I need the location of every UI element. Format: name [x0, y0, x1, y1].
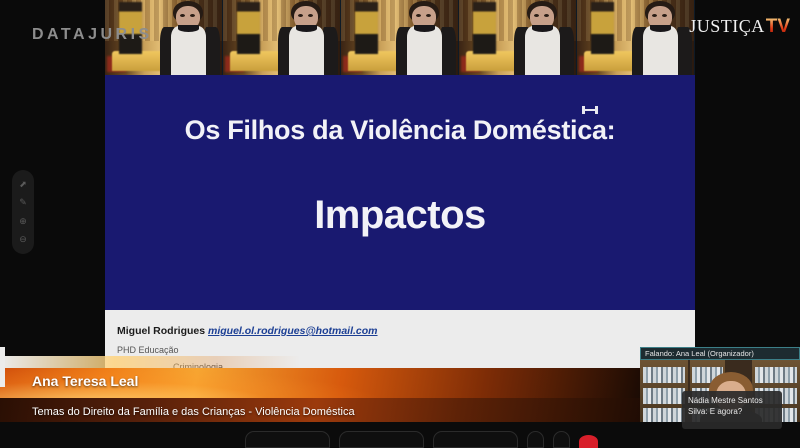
frame-adult-figure — [473, 2, 496, 55]
chat-message-text: Nádia Mestre Santos Silva: E agora? — [688, 396, 776, 418]
zoom-out-tool-icon[interactable]: ⊖ — [17, 233, 30, 246]
frame-boy-figure — [277, 0, 338, 75]
boy-collar — [650, 25, 671, 32]
book-row — [643, 388, 685, 404]
boy-sleeve-right — [323, 27, 338, 75]
resize-cursor-bar — [585, 109, 595, 111]
boy-shirt — [407, 26, 442, 76]
record-indicator-icon[interactable] — [579, 435, 598, 448]
video-frame — [341, 0, 459, 75]
slide-author-line: Miguel Rodrigues miguel.ol.rodrigues@hot… — [117, 325, 378, 337]
zoom-in-tool-icon[interactable]: ⊕ — [17, 215, 30, 228]
control-circle-1[interactable] — [527, 431, 544, 448]
video-conference-screen: DATAJURIS JUSTIÇA TV Os Filhos da Violên… — [0, 0, 800, 448]
book-row — [755, 367, 797, 383]
resize-cursor-right-cap — [595, 106, 598, 114]
speaking-label: Falando: Ana Leal (Organizador) — [645, 349, 754, 358]
slide-author-email[interactable]: miguel.ol.rodrigues@hotmail.com — [208, 325, 378, 337]
slide-credential-1: PHD Educação — [117, 345, 179, 355]
boy-shirt — [525, 26, 560, 76]
boy-sleeve-right — [205, 27, 220, 75]
control-pill-3[interactable] — [433, 431, 518, 448]
slide-subtitle: Impactos — [105, 193, 695, 238]
speaking-label-bar: Falando: Ana Leal (Organizador) — [640, 347, 800, 360]
boy-collar — [532, 25, 553, 32]
frame-adult-figure — [237, 2, 260, 55]
pen-tool-icon[interactable]: ✎ — [17, 196, 30, 209]
slide-author-name: Miguel Rodrigues — [117, 325, 205, 337]
datajuris-watermark: DATAJURIS — [32, 26, 153, 44]
webcam-pip[interactable]: Falando: Ana Leal (Organizador) — [640, 347, 800, 433]
video-frame — [223, 0, 341, 75]
justica-logo-text: JUSTIÇA — [689, 16, 765, 37]
boy-shirt — [643, 26, 678, 76]
frame-adult-figure — [355, 2, 378, 55]
pointer-tool-icon[interactable]: ⬈ — [17, 178, 30, 191]
bottom-control-bar — [0, 422, 800, 448]
boy-shirt — [171, 26, 206, 76]
frame-boy-figure — [513, 0, 574, 75]
frame-adult-figure — [591, 2, 614, 55]
control-button-row — [245, 422, 598, 448]
control-pill-1[interactable] — [245, 431, 330, 448]
justica-logo-accent: TV — [766, 16, 790, 38]
slide-title-panel: Os Filhos da Violência Doméstica: Impact… — [105, 75, 695, 310]
justica-tv-logo: JUSTIÇA TV — [689, 16, 790, 38]
frame-boy-figure — [395, 0, 456, 75]
boy-collar — [296, 25, 317, 32]
horizontal-resize-cursor-icon — [582, 106, 598, 115]
slide-edge-sliver — [0, 347, 5, 387]
book-row — [643, 367, 685, 383]
video-frame-strip — [105, 0, 695, 75]
boy-shirt — [289, 26, 324, 76]
frame-boy-figure — [631, 0, 692, 75]
video-frame — [459, 0, 577, 75]
boy-collar — [414, 25, 435, 32]
frame-boy-figure — [159, 0, 220, 75]
boy-sleeve-right — [441, 27, 456, 75]
boy-sleeve-right — [559, 27, 574, 75]
control-pill-2[interactable] — [339, 431, 424, 448]
annotation-toolbar[interactable]: ⬈ ✎ ⊕ ⊖ — [12, 170, 34, 254]
session-title: Temas do Direito da Família e das Crianç… — [32, 406, 355, 418]
chat-message-tooltip: Nádia Mestre Santos Silva: E agora? — [682, 391, 782, 429]
control-circle-2[interactable] — [553, 431, 570, 448]
video-frame — [577, 0, 695, 75]
lower-third-banner: Ana Teresa Leal Temas do Direito da Famí… — [0, 368, 655, 430]
boy-collar — [178, 25, 199, 32]
slide-title: Os Filhos da Violência Doméstica: — [105, 115, 695, 146]
speaker-name: Ana Teresa Leal — [32, 373, 138, 389]
